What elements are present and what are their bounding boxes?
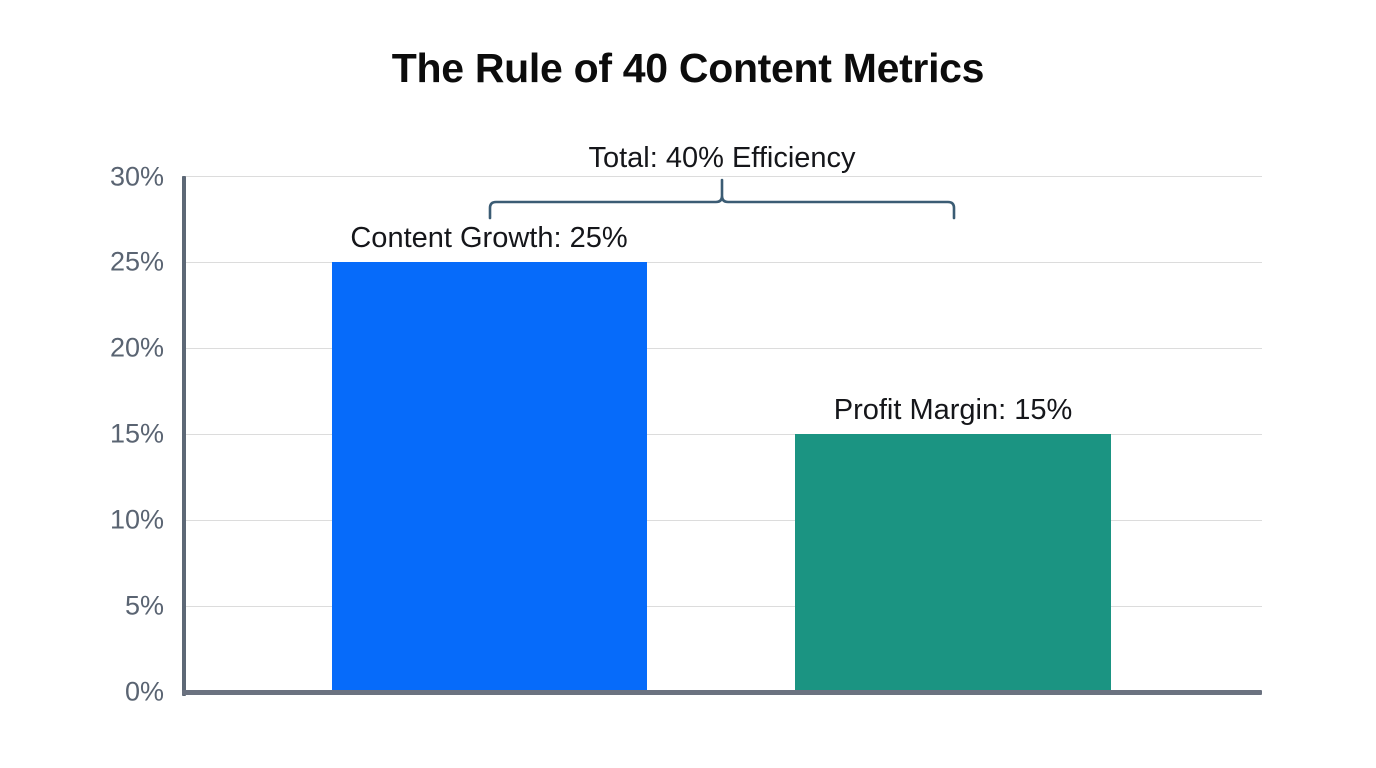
chart-container: The Rule of 40 Content Metrics 0% 5% 10%… [0,0,1376,768]
y-tick-label-0: 0% [125,679,164,706]
y-tick-label-25: 25% [110,249,164,276]
y-tick-label-20: 20% [110,335,164,362]
bar-profit-margin[interactable] [795,434,1111,692]
y-tick-label-5: 5% [125,593,164,620]
y-tick-label-10: 10% [110,507,164,534]
x-axis-line [182,690,1262,695]
chart-title: The Rule of 40 Content Metrics [0,46,1376,92]
bar-label-content-growth: Content Growth: 25% [350,224,627,253]
bar-content-growth[interactable] [332,262,647,692]
y-tick-label-30: 30% [110,164,164,191]
total-brace-icon [486,176,960,226]
bar-label-profit-margin: Profit Margin: 15% [834,396,1073,425]
y-axis-line [182,176,186,696]
plot-area [182,176,1262,692]
total-brace-label: Total: 40% Efficiency [588,144,855,173]
y-tick-label-15: 15% [110,421,164,448]
